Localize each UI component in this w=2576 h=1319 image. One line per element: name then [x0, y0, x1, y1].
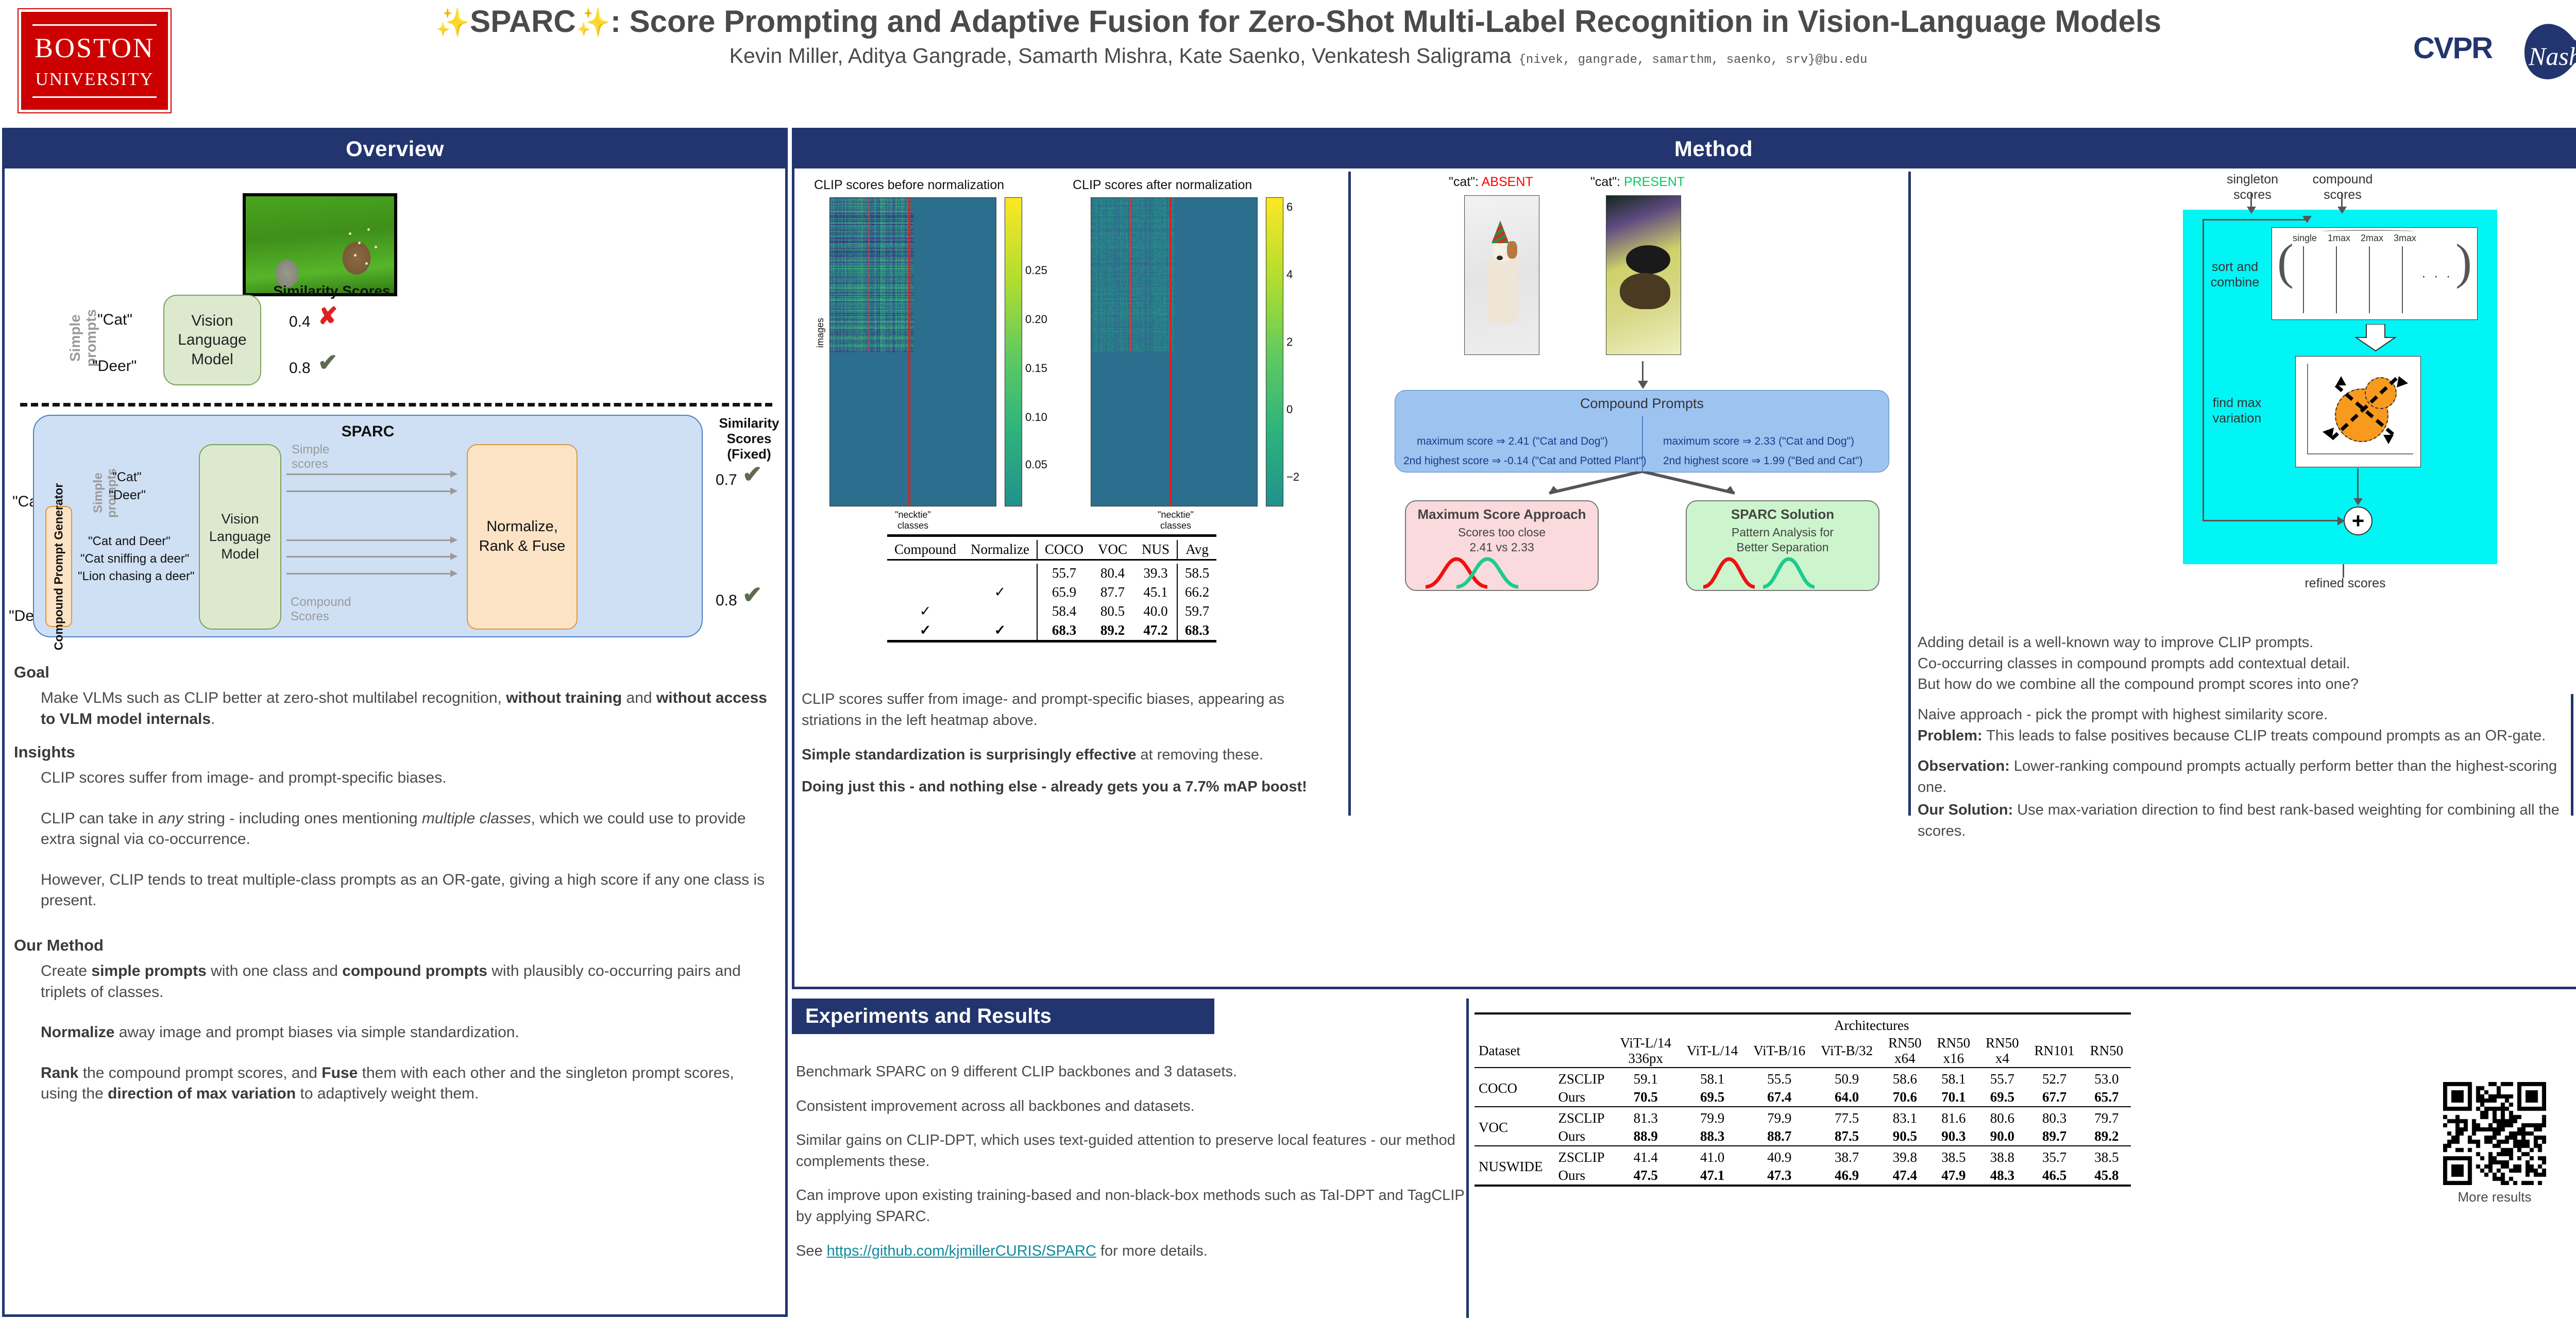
github-link[interactable]: https://github.com/kjmillerCURIS/SPARC	[827, 1243, 1096, 1259]
architectures-group-header: Architectures	[1613, 1017, 2131, 1035]
results-row: VOCZSCLIP81.379.979.977.583.181.680.680.…	[1475, 1109, 2131, 1127]
hm-x2b: classes	[1160, 520, 1191, 531]
cat-present-prefix: "cat":	[1590, 175, 1624, 189]
sparc-solution-title: SPARC Solution	[1687, 506, 1878, 522]
result-cell: 87.5	[1813, 1127, 1880, 1146]
sparc-solution-box: SPARC Solution Pattern Analysis for Bett…	[1686, 500, 1879, 591]
result-cell: 69.5	[1978, 1088, 2027, 1107]
result-cell: 83.1	[1880, 1109, 1929, 1127]
max-score-title: Maximum Score Approach	[1406, 506, 1598, 522]
result-cell: 90.5	[1880, 1127, 1929, 1146]
our-method-text-2: Rank the compound prompt scores, and Fus…	[41, 1063, 771, 1105]
score-deer: 0.8	[289, 360, 311, 377]
max-sub-1: Scores too close	[1458, 526, 1546, 539]
similarity-scores-label: Similarity Scores	[267, 283, 396, 299]
result-cell: 47.5	[1613, 1166, 1679, 1186]
cvpr-logo: CVPR JUNE 11-15, 2025 Nashville	[2411, 4, 2576, 102]
sparc-solution-sub: Pattern Analysis for Better Separation	[1687, 525, 1878, 555]
ablation-col-3: VOC	[1091, 540, 1134, 560]
result-cell: 88.3	[1679, 1127, 1745, 1146]
result-cell: 47.3	[1745, 1166, 1813, 1186]
qr-caption: More results	[2443, 1189, 2546, 1205]
heatmap-left-ylabel: images	[815, 318, 826, 348]
result-cell: 77.5	[1813, 1109, 1880, 1127]
compound-prompt-3: "Lion chasing a deer"	[78, 569, 195, 584]
result-cell: 80.6	[1978, 1109, 2027, 1127]
heatmap-right-title: CLIP scores after normalization	[1073, 178, 1252, 193]
result-cell: 88.9	[1613, 1127, 1679, 1146]
cbar-left-tick-0: 0.25	[1025, 264, 1047, 277]
dataset-name: VOC	[1475, 1109, 1550, 1146]
title-block: ✨SPARC✨: Score Prompting and Adaptive Fu…	[191, 5, 2406, 68]
result-cell: 41.4	[1613, 1148, 1679, 1166]
result-cell: 52.7	[2027, 1070, 2082, 1088]
down-arrow-head	[1638, 381, 1648, 389]
result-cell: 38.5	[1929, 1148, 1978, 1166]
logo-rule-top	[32, 24, 156, 26]
cat-on-bed-photo	[1606, 195, 1681, 355]
result-cell: 41.0	[1679, 1148, 1745, 1166]
heatmap-left-title: CLIP scores before normalization	[814, 178, 1004, 193]
section-insights: Insights CLIP scores suffer from image- …	[14, 743, 771, 911]
sort-and-combine-label: sort and combine	[2201, 259, 2268, 290]
sparkle-icon-left: ✨	[435, 7, 470, 38]
sparc-score-deer: 0.8	[716, 592, 737, 610]
cbar-left-tick-2: 0.15	[1025, 362, 1047, 375]
simple-prompt-figure: Simple prompts "Cat" "Deer" Vision Langu…	[36, 284, 767, 395]
method-name: Ours	[1550, 1127, 1612, 1146]
arch-header-6: RN50x4	[1978, 1035, 2027, 1068]
result-cell: 65.7	[2082, 1088, 2131, 1107]
arch-header-0: ViT-L/14336px	[1613, 1035, 1679, 1068]
arch-header-5: RN50x16	[1929, 1035, 1978, 1068]
overlapping-distributions	[1420, 555, 1585, 589]
result-cell: 89.2	[2082, 1127, 2131, 1146]
max-variation-plot-box	[2295, 356, 2421, 467]
goal-text-0: Make VLMs such as CLIP better at zero-sh…	[41, 688, 771, 730]
method-vertical-divider	[1348, 172, 1351, 816]
ablation-row: ✓ 58.4 80.540.0 59.7	[887, 602, 1216, 621]
result-cell: 47.4	[1880, 1166, 1929, 1186]
cbar-right-tick-4: −2	[1286, 470, 1299, 484]
result-cell: 50.9	[1813, 1070, 1880, 1088]
right-max-score: maximum score ⇒ 2.33 ("Cat and Dog")	[1663, 435, 1854, 448]
result-cell: 38.8	[1978, 1148, 2027, 1166]
sum-node: +	[2344, 506, 2372, 535]
result-cell: 47.9	[1929, 1166, 1978, 1186]
result-cell: 79.7	[2082, 1109, 2131, 1127]
compound-prompt-2: "Cat sniffing a deer"	[80, 552, 189, 566]
matrix-ellipsis: · · ·	[2421, 268, 2452, 284]
cat-deer-photo	[243, 193, 397, 296]
dataset-header: Dataset	[1475, 1035, 1550, 1068]
section-divider	[20, 403, 772, 407]
method-name: ZSCLIP	[1550, 1109, 1612, 1127]
result-cell: 38.7	[1813, 1148, 1880, 1166]
arch-header-1: ViT-L/14	[1679, 1035, 1745, 1068]
method-right-note-3: Our Solution: Use max-variation directio…	[1918, 800, 2572, 841]
exp-bullet-3: Can improve upon existing training-based…	[796, 1185, 1466, 1227]
find-max-variation-label: find max variation	[2204, 395, 2270, 426]
boston-university-logo: BOSTON UNIVERSITY	[19, 9, 171, 112]
method-name: Ours	[1550, 1166, 1612, 1186]
method-vertical-divider-2	[1908, 172, 1911, 816]
author-names: Kevin Miller, Aditya Gangrade, Samarth M…	[730, 44, 1512, 67]
sparc-similarity-label: Similarity Scores (Fixed)	[710, 416, 788, 462]
our-method-text-0: Create simple prompts with one class and…	[41, 961, 771, 1003]
heatmap-left-colorbar	[1005, 197, 1022, 506]
goal-heading: Goal	[14, 663, 771, 682]
left-max-score: maximum score ⇒ 2.41 ("Cat and Dog")	[1417, 435, 1608, 448]
arrow-compound-2	[286, 556, 456, 557]
poster-root: BOSTON UNIVERSITY ✨SPARC✨: Score Prompti…	[0, 0, 2576, 1319]
arrow-simple-1	[286, 474, 456, 475]
guitar-icon: JUNE 11-15, 2025 Nashville	[2488, 11, 2576, 94]
arch-header-8: RN50	[2082, 1035, 2131, 1068]
refined-scores-label: refined scores	[2289, 576, 2402, 591]
cross-icon: ✘	[318, 304, 338, 328]
logo-line-1: BOSTON	[35, 34, 155, 62]
arch-header-4: RN50x64	[1880, 1035, 1929, 1068]
compound-prompt-1: "Cat and Deer"	[88, 534, 171, 549]
arch-header-3: ViT-B/32	[1813, 1035, 1880, 1068]
result-cell: 88.7	[1745, 1127, 1813, 1146]
sparc-prompt-cat: "Cat"	[112, 470, 142, 485]
result-cell: 38.5	[2082, 1148, 2131, 1166]
result-cell: 46.5	[2027, 1166, 2082, 1186]
dataset-name: NUSWIDE	[1475, 1148, 1550, 1186]
cbar-left-tick-3: 0.10	[1025, 411, 1047, 424]
arrow-compound-3	[286, 573, 456, 574]
method-note-2: Doing just this - and nothing else - alr…	[802, 776, 1348, 798]
results-row: Ours88.988.388.787.590.590.390.089.789.2	[1475, 1127, 2131, 1146]
ablation-table-wrap: CompoundNormalizeCOCOVOCNUSAvg 55.7 80.4…	[887, 534, 1216, 646]
result-cell: 67.4	[1745, 1088, 1813, 1107]
fusion-pipeline-box: ( ) single 1max 2max 3max · · · sort and…	[2183, 210, 2497, 564]
arrow-simple-2	[286, 491, 456, 492]
result-cell: 40.9	[1745, 1148, 1813, 1166]
result-cell: 70.6	[1880, 1088, 1929, 1107]
results-table: ArchitecturesDatasetViT-L/14336pxViT-L/1…	[1475, 1012, 2131, 1189]
maximum-score-approach-box: Maximum Score Approach Scores too close …	[1405, 500, 1599, 591]
score-matrix-box: ( ) single 1max 2max 3max · · ·	[2272, 227, 2478, 320]
method-right-note-0: Adding detail is a well-known way to imp…	[1918, 632, 2572, 695]
title-rest: : Score Prompting and Adaptive Fusion fo…	[611, 4, 2161, 39]
cat-present-state: PRESENT	[1624, 175, 1685, 189]
arch-header-2: ViT-B/16	[1745, 1035, 1813, 1068]
result-cell: 58.6	[1880, 1070, 1929, 1088]
author-emails: {nivek, gangrade, samarthm, saenko, srv}…	[1518, 53, 1867, 67]
method-name: Ours	[1550, 1088, 1612, 1107]
result-cell: 81.3	[1613, 1109, 1679, 1127]
result-cell: 58.1	[1679, 1070, 1745, 1088]
cat-absent-prefix: "cat":	[1449, 175, 1482, 189]
sparc-architecture-box: SPARC Compound Prompt Generator Simple p…	[33, 415, 703, 637]
ablation-table: CompoundNormalizeCOCOVOCNUSAvg 55.7 80.4…	[887, 534, 1216, 646]
results-row: Ours47.547.147.346.947.447.948.346.545.8	[1475, 1166, 2131, 1186]
heatmap-before-normalization	[829, 197, 996, 506]
prompt-deer-label: "Deer"	[92, 358, 137, 375]
result-cell: 90.0	[1978, 1127, 2027, 1146]
check-icon-cat: ✔	[742, 462, 762, 486]
insights-text-2: However, CLIP tends to treat multiple-cl…	[41, 870, 771, 911]
matrix-col-label-1: 1max	[2328, 233, 2350, 244]
result-cell: 46.9	[1813, 1166, 1880, 1186]
compound-prompts-box: Compound Prompts maximum score ⇒ 2.41 ("…	[1395, 390, 1889, 472]
result-cell: 70.5	[1613, 1088, 1679, 1107]
max-score-sub: Scores too close 2.41 vs 2.33	[1406, 525, 1598, 555]
result-cell: 67.7	[2027, 1088, 2082, 1107]
logo-rule-bottom	[32, 96, 156, 98]
result-cell: 89.7	[2027, 1127, 2082, 1146]
ablation-row: ✓ 65.9 87.745.1 66.2	[887, 583, 1216, 602]
experiments-bullets: Benchmark SPARC on 9 different CLIP back…	[796, 1061, 1466, 1275]
cpg-label: Compound Prompt Generator	[52, 483, 65, 650]
heatmap-left-highlight-column	[908, 198, 910, 506]
result-cell: 35.7	[2027, 1148, 2082, 1166]
hm-x1b: "necktie"	[1158, 510, 1194, 520]
insights-text-0: CLIP scores suffer from image- and promp…	[41, 768, 771, 789]
branch-arrows	[1395, 471, 1889, 503]
result-cell: 79.9	[1679, 1109, 1745, 1127]
ablation-row: 55.7 80.439.3 58.5	[887, 564, 1216, 583]
heatmap-after-normalization	[1091, 197, 1258, 506]
normalize-rank-fuse-box: Normalize, Rank & Fuse	[467, 444, 578, 630]
check-icon-deer: ✔	[742, 583, 762, 606]
compound-scores-label-pipeline: compound scores	[2304, 172, 2381, 202]
result-cell: 70.1	[1929, 1088, 1978, 1107]
score-cat: 0.4	[289, 313, 311, 331]
ablation-col-1: Normalize	[963, 540, 1037, 560]
result-cell: 55.7	[1978, 1070, 2027, 1088]
sparc-score-cat: 0.7	[716, 471, 737, 489]
paren-left: (	[2277, 237, 2294, 286]
title-main: SPARC	[470, 4, 576, 39]
overview-body: Simple prompts "Cat" "Deer" Vision Langu…	[5, 168, 785, 1313]
cat-present-label: "cat": PRESENT	[1590, 175, 1685, 190]
heatmap-right-highlight-column	[1170, 198, 1172, 506]
result-cell: 55.5	[1745, 1070, 1813, 1088]
ablation-col-0: Compound	[887, 540, 963, 560]
exp-bullet-2: Similar gains on CLIP-DPT, which uses te…	[796, 1130, 1466, 1172]
result-cell: 81.6	[1929, 1109, 1978, 1127]
prompt-cat-label: "Cat"	[97, 311, 132, 329]
see-prefix: See	[796, 1243, 827, 1259]
cbar-right-tick-3: 0	[1286, 403, 1293, 416]
left-second-score: 2nd highest score ⇒ -0.14 ("Cat and Pott…	[1403, 454, 1646, 467]
exp-bullet-1: Consistent improvement across all backbo…	[796, 1096, 1466, 1117]
right-second-score: 2nd highest score ⇒ 1.99 ("Bed and Cat")	[1663, 454, 1862, 467]
result-cell: 64.0	[1813, 1088, 1880, 1107]
method-heading: Method	[794, 130, 2576, 168]
result-cell: 48.3	[1978, 1166, 2027, 1186]
separated-distributions	[1697, 555, 1872, 589]
method-right-note-2: Observation: Lower-ranking compound prom…	[1918, 756, 2572, 798]
heatmap-left-xlabel: "necktie" classes	[856, 510, 970, 531]
ablation-col-5: Avg	[1177, 540, 1216, 560]
overview-heading: Overview	[5, 130, 785, 168]
hm-x2: classes	[897, 520, 928, 531]
method-name: ZSCLIP	[1550, 1070, 1612, 1088]
results-row: COCOZSCLIP59.158.155.550.958.658.155.752…	[1475, 1070, 2131, 1088]
paren-right: )	[2455, 237, 2472, 286]
result-cell: 58.1	[1929, 1070, 1978, 1088]
method-right-note-1: Naive approach - pick the prompt with hi…	[1918, 704, 2572, 746]
arrow-compound-1	[286, 539, 456, 541]
section-our-method: Our Method Create simple prompts with on…	[14, 936, 771, 1105]
compound-prompts-title: Compound Prompts	[1395, 396, 1889, 412]
overview-panel: Overview Simple prompts "Cat" "Deer" Vis…	[2, 128, 788, 1317]
our-method-heading: Our Method	[14, 936, 771, 955]
dataset-name: COCO	[1475, 1070, 1550, 1107]
compound-scores-label: Compound Scores	[291, 595, 347, 623]
cat-absent-label: "cat": ABSENT	[1449, 175, 1533, 190]
cat-absent-state: ABSENT	[1482, 175, 1533, 189]
experiments-divider	[1466, 999, 1469, 1318]
sparkle-icon-right: ✨	[576, 7, 611, 38]
exp-bullet-0: Benchmark SPARC on 9 different CLIP back…	[796, 1061, 1466, 1083]
result-cell: 59.1	[1613, 1070, 1679, 1088]
result-cell: 69.5	[1679, 1088, 1745, 1107]
variation-arrows	[2316, 367, 2414, 454]
qr-code[interactable]	[2443, 1082, 2546, 1185]
conference-city: Nashville	[2528, 42, 2576, 71]
sparc-box-title: SPARC	[34, 423, 702, 441]
vision-language-model-box: Vision Language Model	[163, 295, 261, 385]
results-row: Ours70.569.567.464.070.670.169.567.765.7	[1475, 1088, 2131, 1107]
experiments-heading: Experiments and Results	[792, 999, 1214, 1034]
check-icon: ✔	[318, 350, 338, 374]
insights-text-1: CLIP can take in any string - including …	[41, 808, 771, 850]
hm-x1: "necktie"	[895, 510, 931, 520]
heatmap-right-xlabel: "necktie" classes	[1119, 510, 1232, 531]
cbar-left-tick-1: 0.20	[1025, 313, 1047, 326]
results-table-wrap: ArchitecturesDatasetViT-L/14336pxViT-L/1…	[1475, 1012, 2131, 1189]
result-cell: 45.8	[2082, 1166, 2131, 1186]
result-cell: 79.9	[1745, 1109, 1813, 1127]
method-name: ZSCLIP	[1550, 1148, 1612, 1166]
sparc-vlm-box: Vision Language Model	[199, 444, 281, 630]
result-cell: 90.3	[1929, 1127, 1978, 1146]
result-cell: 47.1	[1679, 1166, 1745, 1186]
sparc-sub-1: Pattern Analysis for	[1732, 526, 1834, 539]
dog-in-snow-photo	[1464, 195, 1539, 355]
chart-divider	[2571, 694, 2573, 816]
poster-title: ✨SPARC✨: Score Prompting and Adaptive Fu…	[191, 5, 2406, 38]
cbar-right-tick-1: 4	[1286, 268, 1293, 281]
fat-down-arrow	[2353, 324, 2399, 352]
cvpr-wordmark: CVPR	[2413, 31, 2492, 65]
max-sub-2: 2.41 vs 2.33	[1469, 540, 1534, 554]
method-note-0: CLIP scores suffer from image- and promp…	[802, 689, 1317, 731]
sparc-sub-2: Better Separation	[1736, 540, 1828, 554]
ablation-row: ✓✓ 68.3 89.247.2 68.3	[887, 621, 1216, 641]
cbar-left-tick-4: 0.05	[1025, 458, 1047, 471]
logo-line-2: UNIVERSITY	[36, 70, 154, 88]
section-goal: Goal Make VLMs such as CLIP better at ze…	[14, 663, 771, 730]
qr-block: More results	[2443, 1082, 2546, 1205]
author-list: Kevin Miller, Aditya Gangrade, Samarth M…	[191, 44, 2406, 68]
sparc-prompt-deer: "Deer"	[109, 488, 146, 503]
compound-prompt-generator-box: Compound Prompt Generator	[45, 506, 72, 627]
matrix-col-label-2: 2max	[2361, 233, 2383, 244]
result-cell: 39.8	[1880, 1148, 1929, 1166]
ablation-col-2: COCO	[1037, 540, 1091, 560]
method-body: CLIP scores before normalization images …	[794, 168, 2576, 983]
results-row: NUSWIDEZSCLIP41.441.040.938.739.838.538.…	[1475, 1148, 2131, 1166]
simple-scores-label: Simple scores	[292, 443, 343, 471]
arch-header-7: RN101	[2027, 1035, 2082, 1068]
insights-heading: Insights	[14, 743, 771, 762]
result-cell: 53.0	[2082, 1070, 2131, 1088]
see-suffix: for more details.	[1096, 1243, 1208, 1259]
cbar-right-tick-0: 6	[1286, 200, 1293, 214]
poster-header: BOSTON UNIVERSITY ✨SPARC✨: Score Prompti…	[0, 0, 2576, 123]
matrix-col-label-3: 3max	[2394, 233, 2416, 244]
our-method-text-1: Normalize away image and prompt biases v…	[41, 1022, 771, 1043]
matrix-col-label-0: single	[2293, 233, 2317, 244]
result-cell: 80.3	[2027, 1109, 2082, 1127]
exp-link-line: See https://github.com/kjmillerCURIS/SPA…	[796, 1241, 1466, 1262]
sparc-sim-line2: (Fixed)	[727, 446, 771, 462]
heatmap-right-colorbar	[1266, 197, 1283, 506]
ablation-col-4: NUS	[1134, 540, 1177, 560]
sparc-sim-line1: Similarity Scores	[719, 415, 779, 446]
cbar-right-tick-2: 2	[1286, 335, 1293, 349]
singleton-scores-label: singleton scores	[2216, 172, 2289, 202]
method-note-1: Simple standardization is surprisingly e…	[802, 745, 1317, 766]
method-panel: Method CLIP scores before normalization …	[792, 128, 2576, 989]
